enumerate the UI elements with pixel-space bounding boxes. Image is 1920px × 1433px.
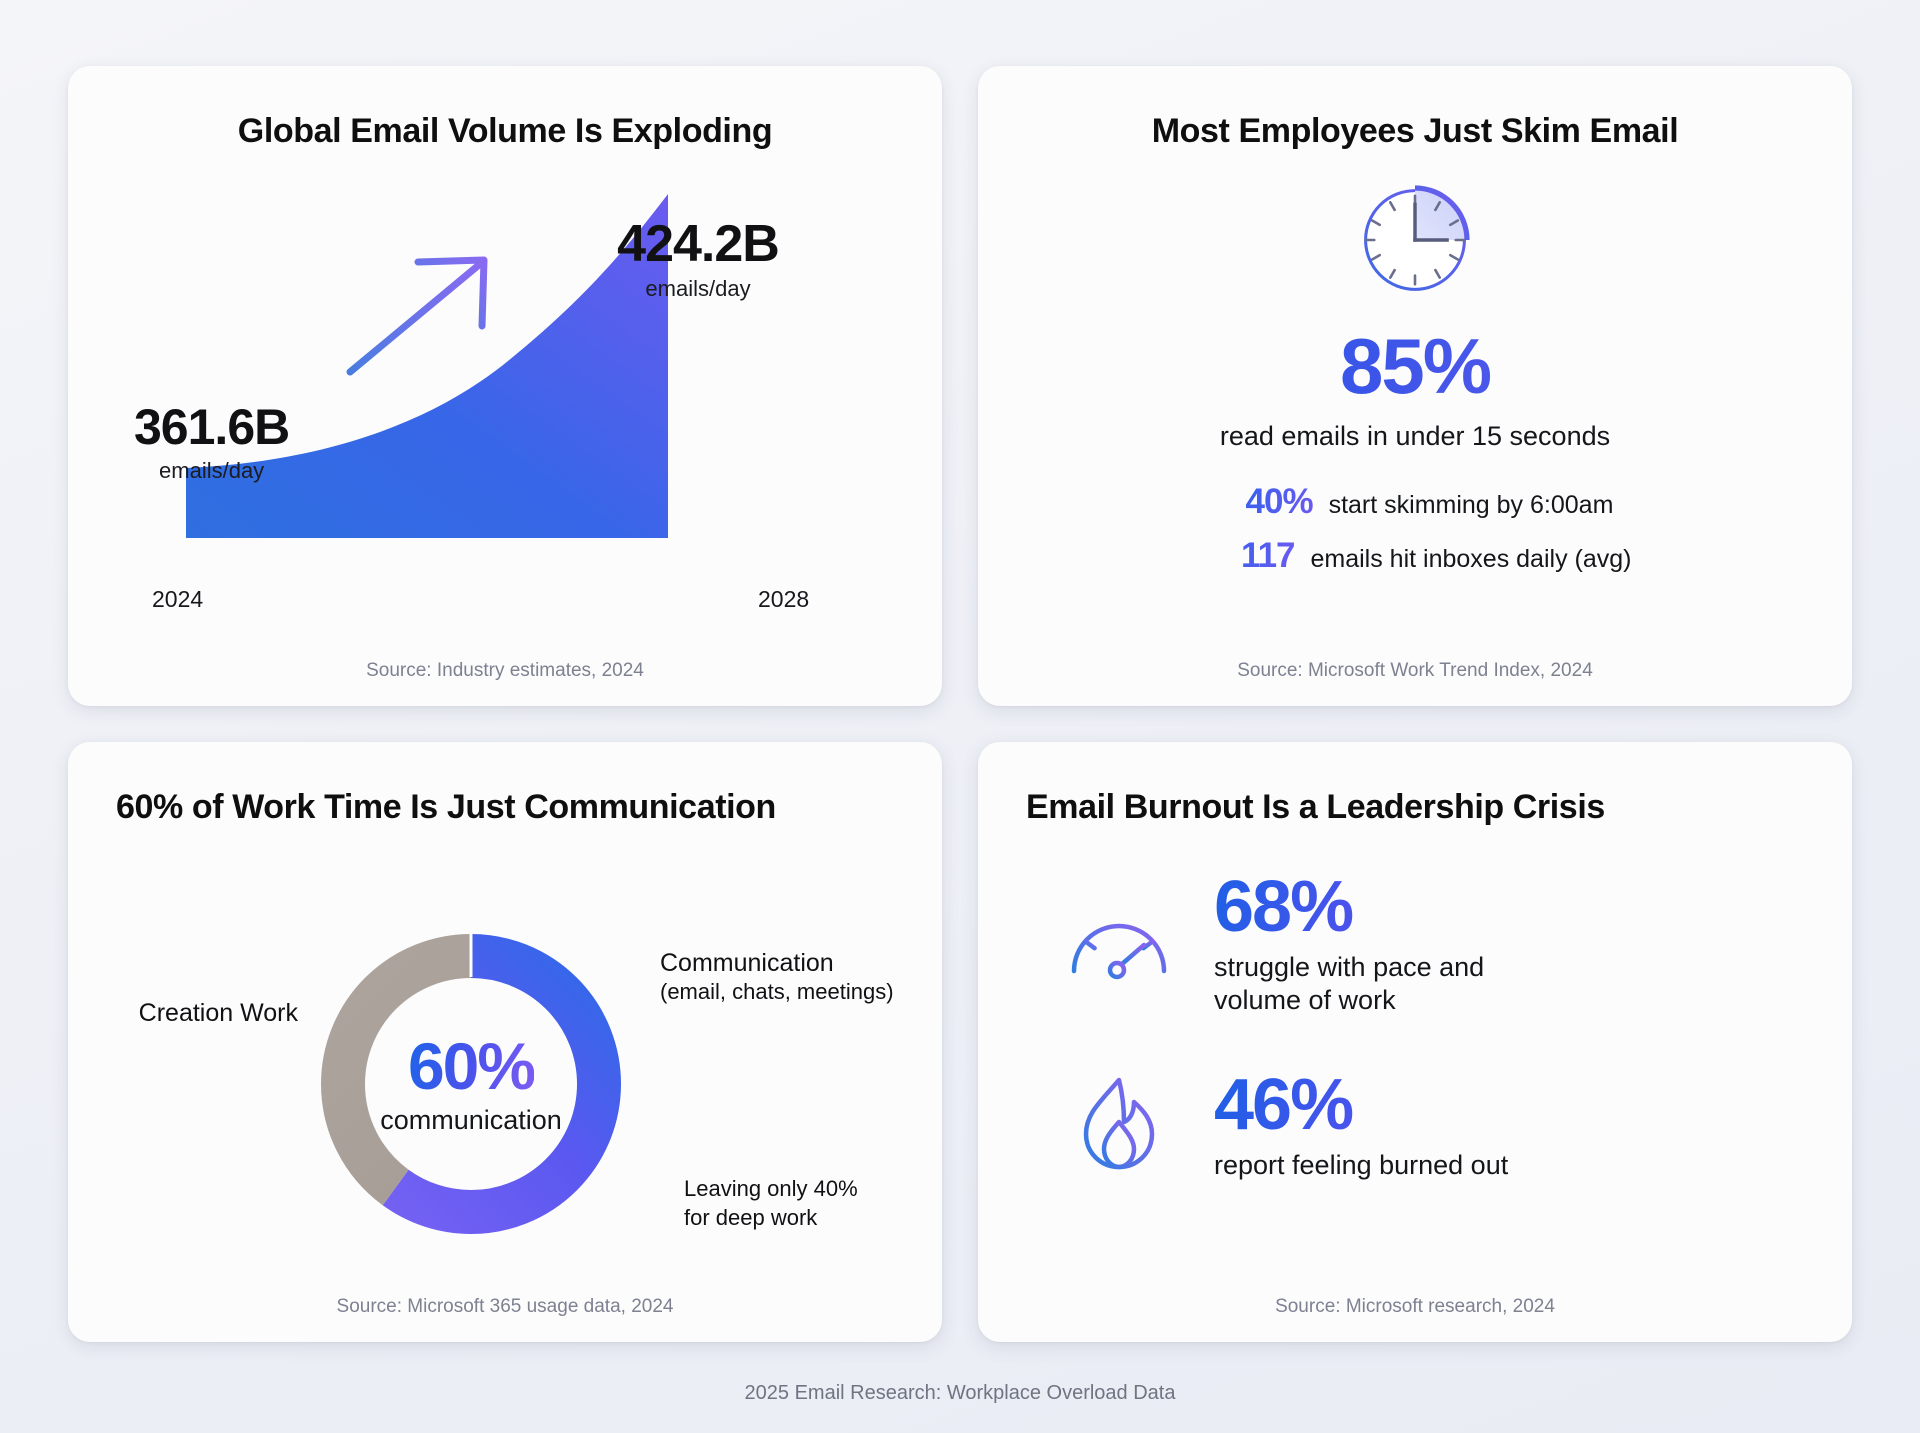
list-item: 117 emails hit inboxes daily (avg) (1199, 536, 1632, 576)
gauge-icon (1060, 889, 1178, 999)
source-email-volume: Source: Industry estimates, 2024 (68, 660, 942, 682)
flame-icon (1060, 1070, 1178, 1180)
card-email-burnout: Email Burnout Is a Leadership Crisis (978, 742, 1852, 1342)
stat-label-line1: struggle with pace and (1214, 952, 1484, 982)
skim-stat-list: 40% start skimming by 6:00am 117 emails … (978, 482, 1852, 576)
donut-label-deep-work-line2: for deep work (684, 1205, 817, 1230)
source-skim-email: Source: Microsoft Work Trend Index, 2024 (978, 660, 1852, 682)
stat-label: start skimming by 6:00am (1329, 491, 1614, 520)
list-item: 46% report feeling burned out (1060, 1069, 1852, 1182)
stat-skim-caption: read emails in under 15 seconds (978, 421, 1852, 452)
card-grid: Global Email Volume Is Exploding (68, 66, 1852, 1342)
card-title-email-volume: Global Email Volume Is Exploding (68, 66, 942, 151)
donut-label-communication-main: Communication (660, 949, 834, 977)
stat-value: 40% (1217, 482, 1313, 522)
card-title-burnout: Email Burnout Is a Leadership Crisis (978, 742, 1852, 827)
clock-icon (1330, 175, 1500, 305)
stat-2028: 424.2B emails/day (578, 218, 818, 300)
donut-label-deep-work-line1: Leaving only 40% (684, 1176, 858, 1201)
source-communication: Source: Microsoft 365 usage data, 2024 (68, 1296, 942, 1318)
clock-icon-holder (978, 175, 1852, 305)
donut-label-creation-work: Creation Work (78, 999, 298, 1028)
donut-center-label: 60% communication (306, 919, 636, 1249)
list-item: 40% start skimming by 6:00am (1217, 482, 1614, 522)
stat-2024-value: 361.6B (134, 399, 289, 455)
card-title-communication: 60% of Work Time Is Just Communication (68, 742, 942, 827)
stat-label: report feeling burned out (1214, 1149, 1508, 1182)
stat-value: 68% (1214, 871, 1484, 943)
stat-value: 117 (1199, 536, 1295, 576)
card-communication-split: 60% of Work Time Is Just Communication (68, 742, 942, 1342)
axis-label-end: 2028 (758, 586, 809, 613)
donut-center-subtitle: communication (380, 1105, 562, 1136)
stat-skim-percentage: 85% (978, 327, 1852, 405)
source-burnout: Source: Microsoft research, 2024 (978, 1296, 1852, 1318)
list-item: 68% struggle with pace and volume of wor… (1060, 871, 1852, 1017)
card-skim-email: Most Employees Just Skim Email (978, 66, 1852, 706)
donut-label-deep-work: Leaving only 40% for deep work (684, 1175, 858, 1232)
stat-label-line1: report feeling burned out (1214, 1150, 1508, 1180)
card-title-skim-email: Most Employees Just Skim Email (978, 66, 1852, 151)
stat-label: emails hit inboxes daily (avg) (1311, 545, 1632, 574)
stat-value: 46% (1214, 1069, 1508, 1141)
donut-label-communication-sub: (email, chats, meetings) (660, 979, 894, 1005)
stat-label: struggle with pace and volume of work (1214, 951, 1484, 1017)
stat-2024-unit: emails/day (134, 460, 289, 482)
stat-label-line2: volume of work (1214, 985, 1396, 1015)
page-footer: 2025 Email Research: Workplace Overload … (0, 1382, 1920, 1405)
stat-2028-unit: emails/day (578, 278, 818, 300)
donut-center-percentage: 60% (408, 1033, 534, 1099)
donut-label-communication: Communication (email, chats, meetings) (660, 949, 894, 1004)
card-email-volume: Global Email Volume Is Exploding (68, 66, 942, 706)
stat-2024: 361.6B emails/day (134, 402, 289, 482)
axis-label-start: 2024 (152, 586, 203, 613)
stat-2028-value: 424.2B (617, 215, 779, 273)
